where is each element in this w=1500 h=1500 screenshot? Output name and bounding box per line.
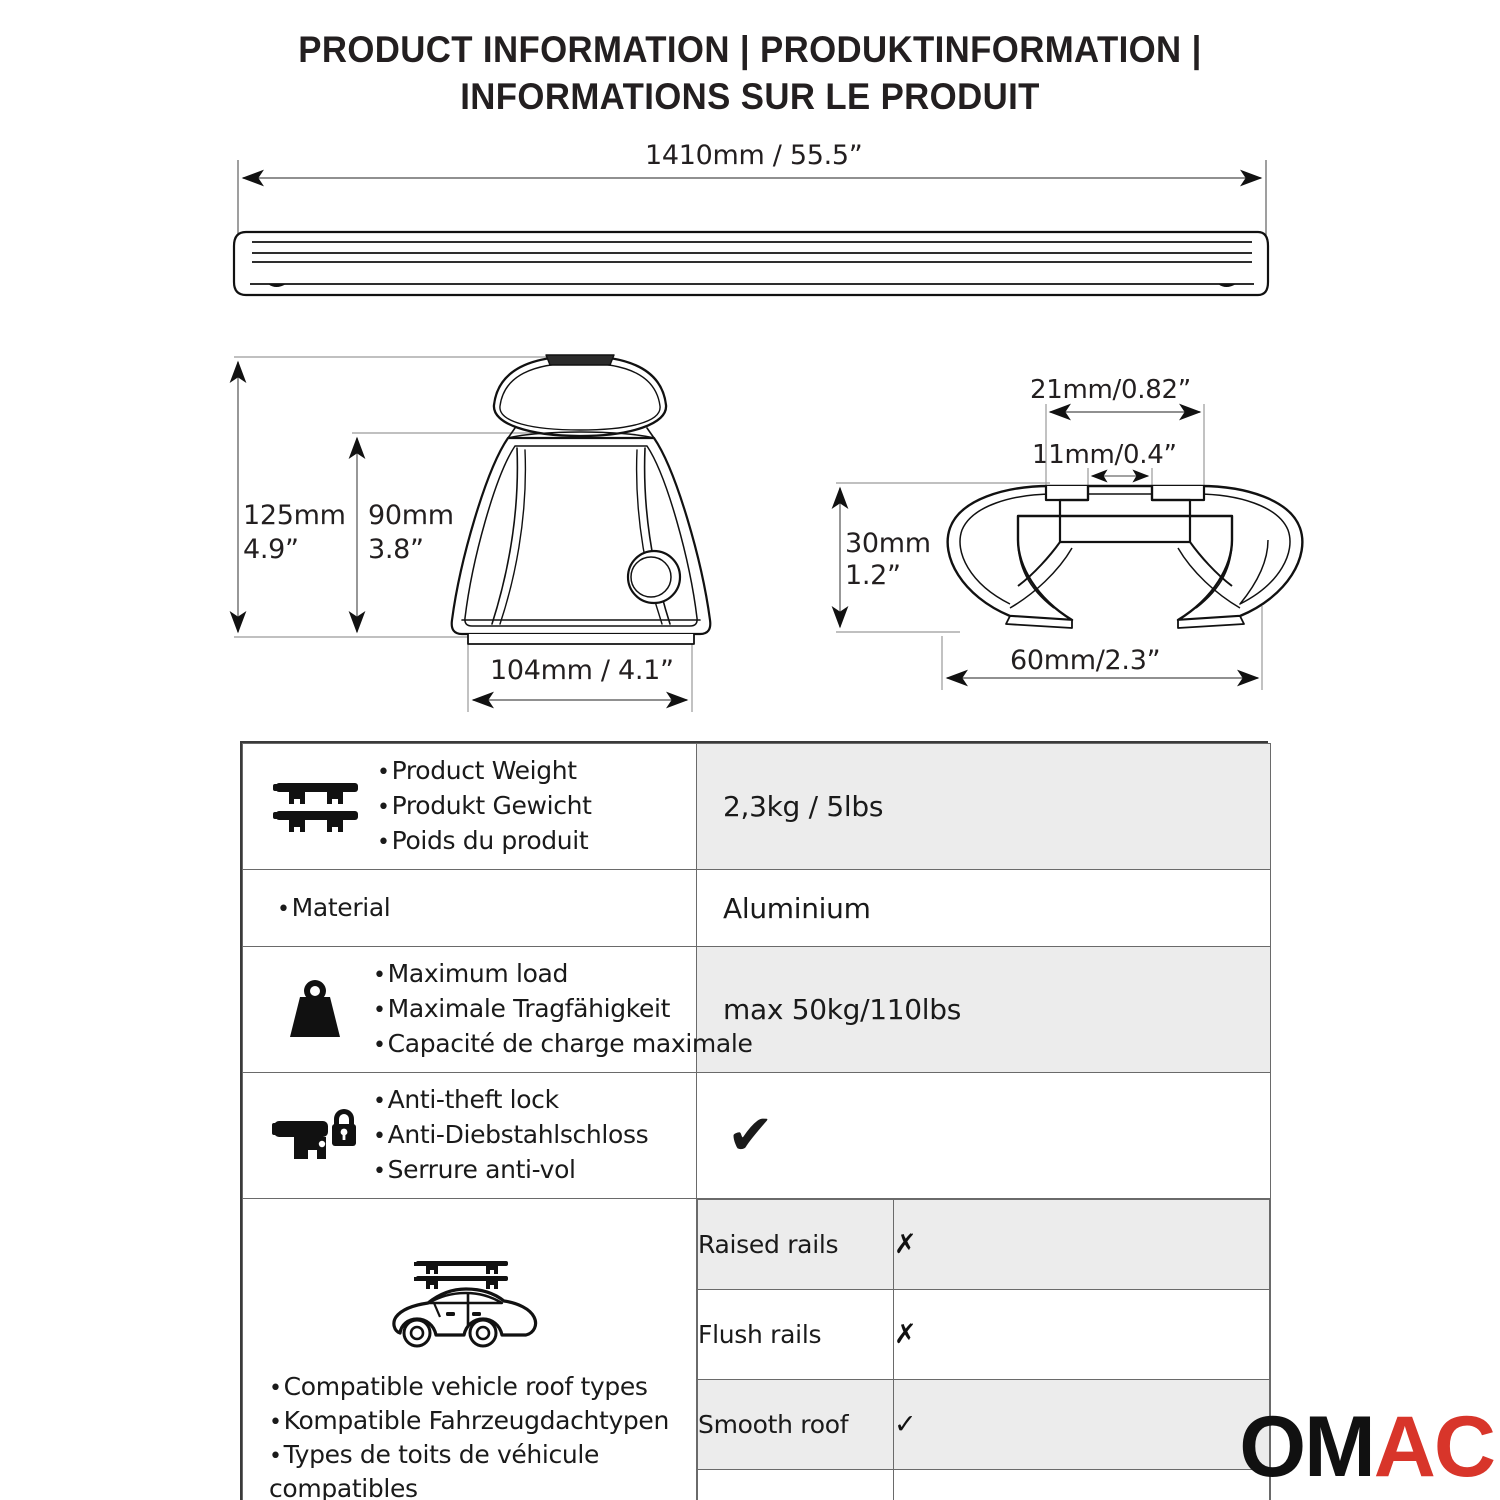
foot-inner-height-label-line1: 90mm <box>368 500 454 531</box>
roof-rack-foot-drawing <box>452 355 711 644</box>
logo-text-dark: OM <box>1239 1399 1374 1495</box>
label-cell-anti-theft-lock: Anti-theft lock Anti-Diebstahlschloss Se… <box>243 1073 697 1199</box>
label-en: Compatible vehicle roof types <box>269 1371 688 1405</box>
bar-cross-section-drawing <box>948 486 1303 628</box>
value-cell-vehicle-roof-types: Raised rails ✗ Flush rails ✗ <box>697 1199 1271 1500</box>
roof-type-row-fixed-points: Fixed points ✗ <box>698 1470 1270 1500</box>
label-cell-product-weight: Product Weight Produkt Gewicht Poids du … <box>243 744 697 870</box>
cross-icon: ✗ <box>894 1319 917 1350</box>
roof-type-mark: ✓ <box>894 1380 1270 1470</box>
table-row-vehicle-roof-types: Compatible vehicle roof types Kompatible… <box>243 1199 1271 1500</box>
value-product-weight: 2,3kg / 5lbs <box>697 780 1270 833</box>
car-with-roof-rack-icon <box>269 1255 688 1359</box>
label-text-product-weight: Product Weight Produkt Gewicht Poids du … <box>377 754 592 859</box>
label-fr: Poids du produit <box>377 824 592 859</box>
foot-dimension-arrows <box>238 362 687 700</box>
roof-type-name: Smooth roof <box>698 1380 894 1470</box>
product-spec-table: Product Weight Produkt Gewicht Poids du … <box>240 741 1268 1500</box>
value-cell-anti-theft-lock: ✔ <box>697 1073 1271 1199</box>
value-cell-maximum-load: max 50kg/110lbs <box>697 947 1271 1073</box>
roof-type-name: Fixed points <box>698 1470 894 1500</box>
value-material: Aluminium <box>697 882 1270 935</box>
omac-logo: OMAC <box>1239 1404 1494 1490</box>
label-text-vehicle-roof-types: Compatible vehicle roof types Kompatible… <box>269 1371 688 1500</box>
profile-outer-slot-label: 21mm/0.82” <box>1030 375 1191 405</box>
value-cell-material: Aluminium <box>697 870 1271 947</box>
roof-type-name: Flush rails <box>698 1290 894 1380</box>
foot-width-label: 104mm / 4.1” <box>490 655 674 686</box>
table-row-anti-theft-lock: Anti-theft lock Anti-Diebstahlschloss Se… <box>243 1073 1271 1199</box>
roof-bar-side-view-drawing <box>234 232 1268 295</box>
check-icon: ✔ <box>723 1110 774 1162</box>
table-row-product-weight: Product Weight Produkt Gewicht Poids du … <box>243 744 1271 870</box>
page-title: PRODUCT INFORMATION | PRODUKTINFORMATION… <box>0 26 1500 120</box>
title-line-2: INFORMATIONS SUR LE PRODUIT <box>45 73 1455 120</box>
label-text-material: Material <box>269 891 390 926</box>
roof-type-row-flush-rails: Flush rails ✗ <box>698 1290 1270 1380</box>
roof-bars-pair-icon <box>269 777 365 837</box>
roof-type-row-smooth-roof: Smooth roof ✓ <box>698 1380 1270 1470</box>
roof-type-mark: ✗ <box>894 1200 1270 1290</box>
label-en: Material <box>277 891 390 926</box>
roof-type-mark: ✗ <box>894 1470 1270 1500</box>
label-cell-vehicle-roof-types: Compatible vehicle roof types Kompatible… <box>243 1199 697 1500</box>
title-line-1: PRODUCT INFORMATION | PRODUKTINFORMATION… <box>45 26 1455 73</box>
profile-height-label-line1: 30mm <box>845 528 931 559</box>
roof-type-mark: ✗ <box>894 1290 1270 1380</box>
logo-text-red: AC <box>1374 1399 1494 1495</box>
foot-total-height-label-line2: 4.9” <box>243 534 299 565</box>
check-icon: ✓ <box>894 1409 917 1440</box>
label-en: Maximum load <box>373 957 753 992</box>
cross-icon: ✗ <box>894 1229 917 1260</box>
label-de: Maximale Tragfähigkeit <box>373 992 753 1027</box>
weight-icon <box>269 979 361 1041</box>
foot-inner-height-label-line2: 3.8” <box>368 534 424 565</box>
label-en: Product Weight <box>377 754 592 789</box>
label-fr: Types de toits de véhicule compatibles <box>269 1439 688 1500</box>
label-cell-material: Material <box>243 870 697 947</box>
lock-icon <box>269 1105 361 1167</box>
label-de: Anti-Diebstahlschloss <box>373 1118 648 1153</box>
roof-type-row-raised-rails: Raised rails ✗ <box>698 1200 1270 1290</box>
bar-length-dimension-label: 1410mm / 55.5” <box>645 140 862 171</box>
profile-inner-slot-label: 11mm/0.4” <box>1032 440 1177 470</box>
label-fr: Serrure anti-vol <box>373 1153 648 1188</box>
label-text-maximum-load: Maximum load Maximale Tragfähigkeit Capa… <box>373 957 753 1062</box>
label-en: Anti-theft lock <box>373 1083 648 1118</box>
label-de: Produkt Gewicht <box>377 789 592 824</box>
value-cell-product-weight: 2,3kg / 5lbs <box>697 744 1271 870</box>
foot-total-height-label-line1: 125mm <box>243 500 346 531</box>
roof-type-subtable: Raised rails ✗ Flush rails ✗ <box>697 1199 1270 1500</box>
label-cell-maximum-load: Maximum load Maximale Tragfähigkeit Capa… <box>243 947 697 1073</box>
profile-height-label-line2: 1.2” <box>845 560 901 591</box>
label-de: Kompatible Fahrzeugdachtypen <box>269 1405 688 1439</box>
table-row-material: Material Aluminium <box>243 870 1271 947</box>
label-fr: Capacité de charge maximale <box>373 1027 753 1062</box>
product-information-sheet: PRODUCT INFORMATION | PRODUKTINFORMATION… <box>0 0 1500 1500</box>
label-text-anti-theft-lock: Anti-theft lock Anti-Diebstahlschloss Se… <box>373 1083 648 1188</box>
roof-type-name: Raised rails <box>698 1200 894 1290</box>
value-maximum-load: max 50kg/110lbs <box>697 983 1270 1036</box>
table-row-maximum-load: Maximum load Maximale Tragfähigkeit Capa… <box>243 947 1271 1073</box>
profile-width-label: 60mm/2.3” <box>1010 645 1160 676</box>
